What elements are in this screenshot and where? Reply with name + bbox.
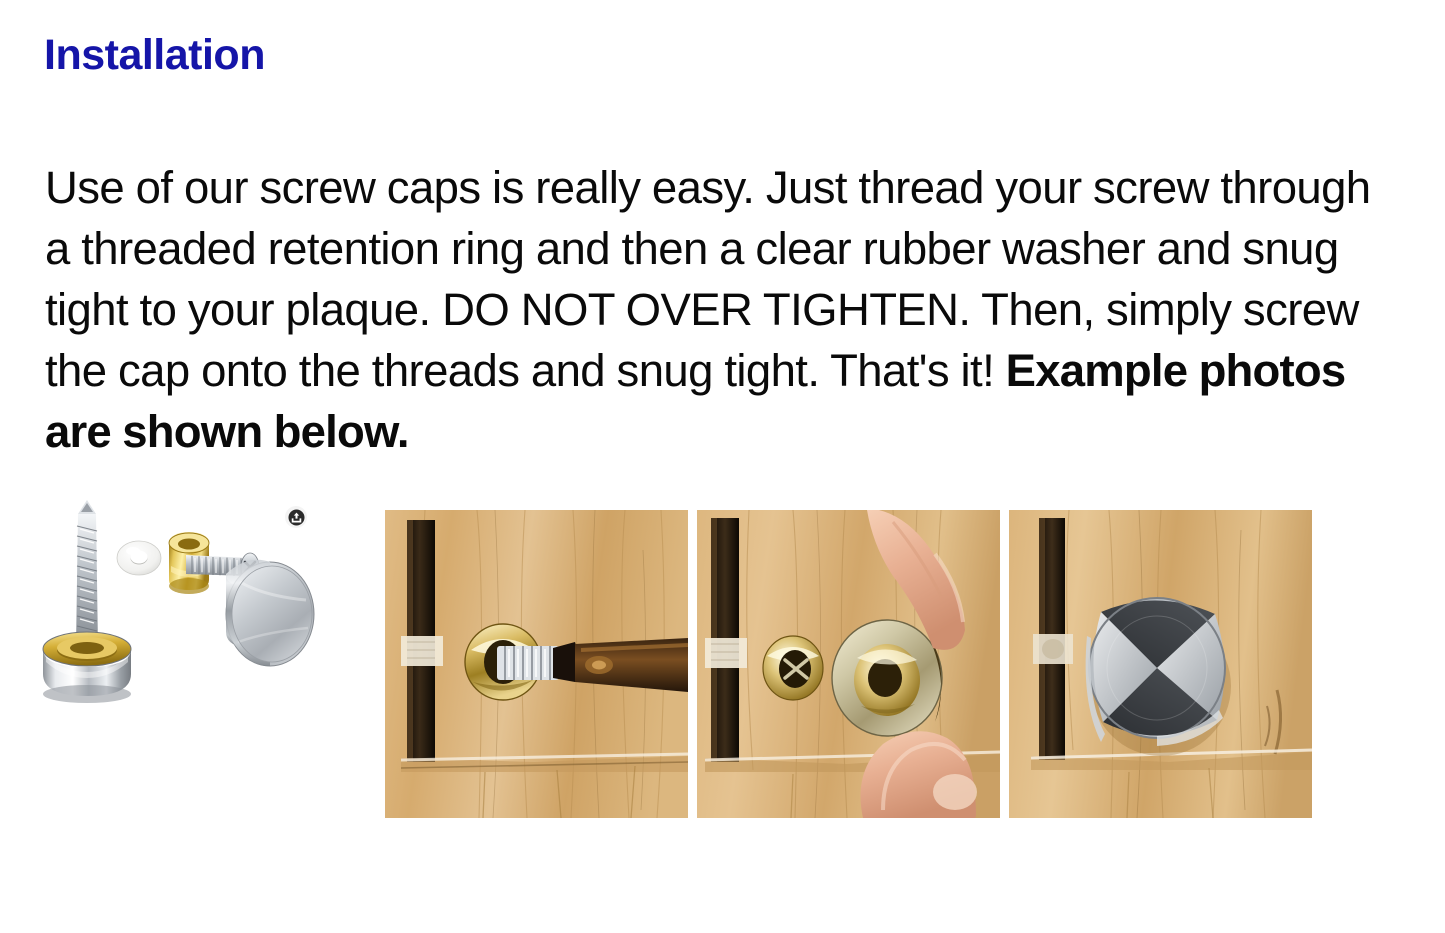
photo-step-3 bbox=[1009, 510, 1312, 818]
part-chrome-cap-base bbox=[43, 632, 131, 703]
example-photo-strip bbox=[385, 510, 1312, 818]
page-root: Installation Use of our screw caps is re… bbox=[0, 0, 1445, 933]
part-chrome-wood-screw bbox=[76, 500, 98, 646]
part-brushed-steel-cap bbox=[226, 560, 314, 666]
share-upload-icon[interactable] bbox=[285, 506, 307, 528]
body-paragraph: Use of our screw caps is really easy. Ju… bbox=[45, 157, 1405, 462]
photo-step-1 bbox=[385, 510, 688, 818]
exploded-diagram bbox=[34, 496, 334, 724]
page-title: Installation bbox=[44, 34, 265, 77]
photo-step-2 bbox=[697, 510, 1000, 818]
part-clear-rubber-washer bbox=[117, 541, 161, 575]
